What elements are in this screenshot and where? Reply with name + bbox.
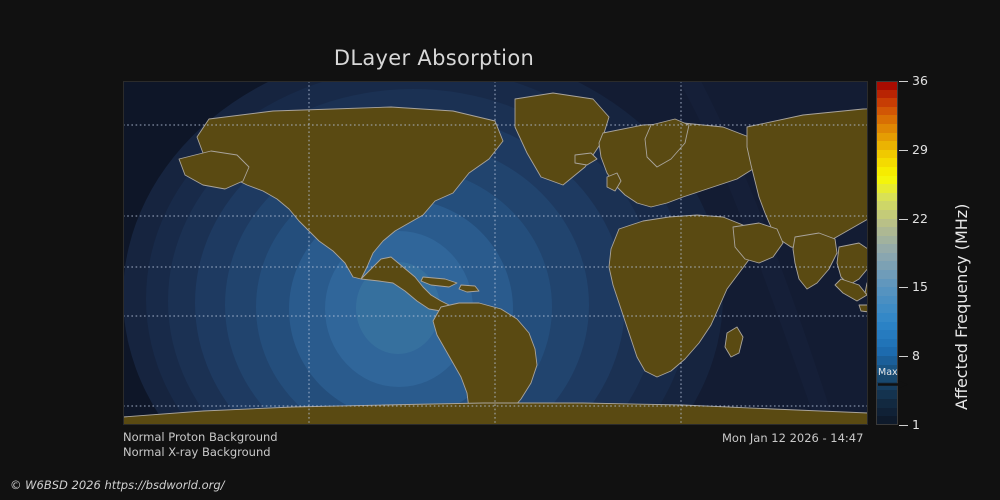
colorbar-segment — [876, 236, 898, 245]
colorbar-tick-label: 22 — [912, 211, 928, 226]
colorbar-segment — [876, 158, 898, 167]
colorbar-segment — [876, 408, 898, 417]
credit-text: © W6BSD 2026 https://bsdworld.org/ — [10, 478, 225, 492]
colorbar-segment — [876, 330, 898, 339]
colorbar-segment — [876, 399, 898, 408]
dlayer-absorption-plot: DLayer Absorption — [0, 0, 1000, 500]
colorbar-segment — [876, 81, 898, 90]
colorbar-segment — [876, 304, 898, 313]
colorbar-segment — [876, 253, 898, 262]
colorbar-segment — [876, 193, 898, 202]
colorbar-segment — [876, 150, 898, 159]
colorbar-tick-label: 15 — [912, 279, 928, 294]
timestamp-text: Mon Jan 12 2026 - 14:47 — [722, 431, 863, 445]
colorbar-segment — [876, 339, 898, 348]
colorbar-segment — [876, 115, 898, 124]
colorbar-segment — [876, 219, 898, 228]
world-map-panel — [123, 81, 868, 425]
xray-status-text: Normal X-ray Background — [123, 445, 271, 459]
colorbar-segment — [876, 287, 898, 296]
colorbar-segment — [876, 210, 898, 219]
colorbar-segment — [876, 98, 898, 107]
colorbar-tick — [899, 150, 908, 151]
page-title: DLayer Absorption — [0, 46, 868, 70]
colorbar-segment — [876, 270, 898, 279]
colorbar-segment — [876, 416, 898, 425]
colorbar-segment — [876, 390, 898, 399]
colorbar-axis-label: Affected Frequency (MHz) — [952, 204, 971, 410]
colorbar-segment — [876, 227, 898, 236]
colorbar-max-arrow-icon — [878, 380, 908, 389]
colorbar-tick — [899, 287, 908, 288]
colorbar-tick — [899, 219, 908, 220]
colorbar-segment — [876, 176, 898, 185]
colorbar-segment — [876, 90, 898, 99]
colorbar-segment — [876, 322, 898, 331]
colorbar-tick-label: 1 — [912, 417, 920, 432]
colorbar-tick-label: 29 — [912, 142, 928, 157]
proton-status-text: Normal Proton Background — [123, 430, 278, 444]
colorbar-segment — [876, 244, 898, 253]
colorbar-segment — [876, 184, 898, 193]
colorbar-segment — [876, 261, 898, 270]
colorbar-segment — [876, 107, 898, 116]
colorbar-segment — [876, 133, 898, 142]
colorbar-segment — [876, 347, 898, 356]
colorbar-segment — [876, 356, 898, 365]
colorbar-segment — [876, 296, 898, 305]
colorbar-segment — [876, 167, 898, 176]
map-svg — [123, 81, 868, 425]
colorbar-tick-label: 36 — [912, 73, 928, 88]
colorbar-segment — [876, 313, 898, 322]
colorbar-segment — [876, 201, 898, 210]
colorbar-segment — [876, 141, 898, 150]
colorbar-tick-label: 8 — [912, 348, 920, 363]
colorbar-segment — [876, 279, 898, 288]
colorbar-tick — [899, 356, 908, 357]
colorbar-tick — [899, 81, 908, 82]
colorbar-segment — [876, 124, 898, 133]
colorbar-max-label: Max — [878, 367, 898, 378]
colorbar-tick — [899, 425, 908, 426]
